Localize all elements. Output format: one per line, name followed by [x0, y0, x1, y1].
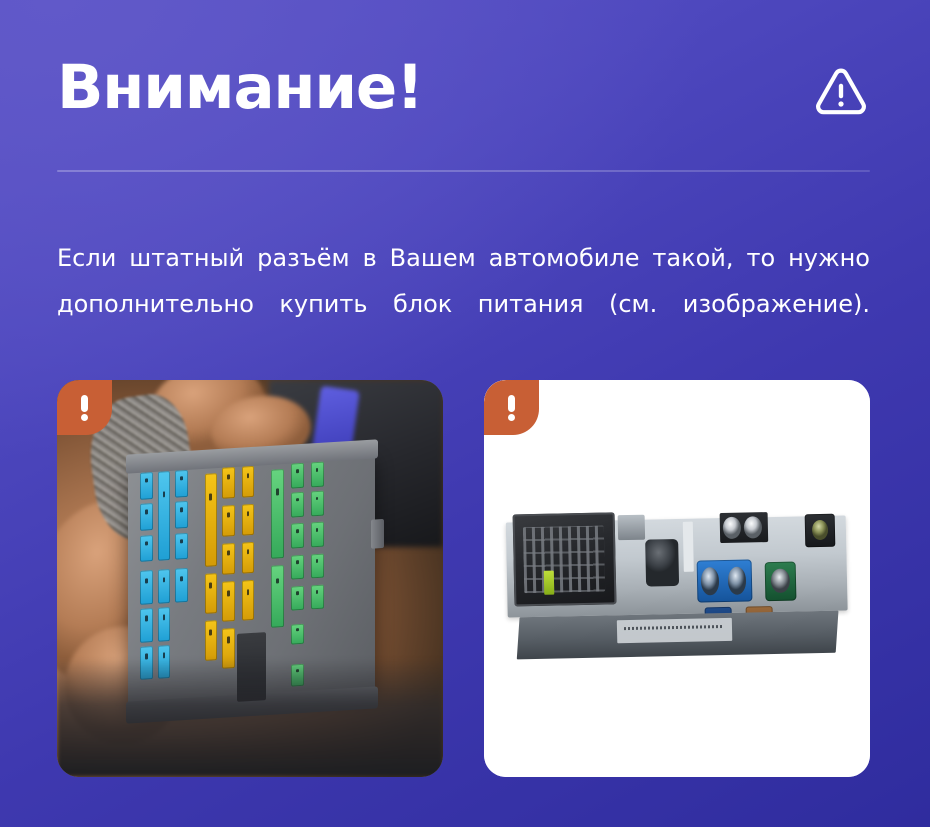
- exclamation-icon: [81, 395, 88, 421]
- exclamation-icon: [508, 395, 515, 421]
- image-card-row: [57, 380, 870, 777]
- antenna-socket: [805, 513, 836, 547]
- power-supply-photo: [484, 380, 870, 777]
- oem-connector-photo: [57, 380, 443, 777]
- header: Внимание!: [57, 52, 870, 144]
- fakra-green-connector: [765, 561, 796, 601]
- warning-paragraph: Если штатный разъём в Вашем автомобиле т…: [57, 235, 870, 373]
- oem-connector-card[interactable]: [57, 380, 443, 777]
- warning-triangle-icon: [812, 62, 870, 120]
- black-connector-block: [513, 512, 617, 606]
- fakra-blue-connector: [697, 559, 752, 602]
- warning-poster: Внимание! Если штатный разъём в Вашем ав…: [0, 0, 930, 827]
- header-divider: [57, 170, 870, 172]
- page-title: Внимание!: [57, 52, 423, 124]
- exclamation-badge: [484, 380, 539, 435]
- power-supply-card[interactable]: [484, 380, 870, 777]
- power-supply-unit: [506, 507, 849, 653]
- rca-connectors: [720, 512, 768, 544]
- exclamation-badge: [57, 380, 112, 435]
